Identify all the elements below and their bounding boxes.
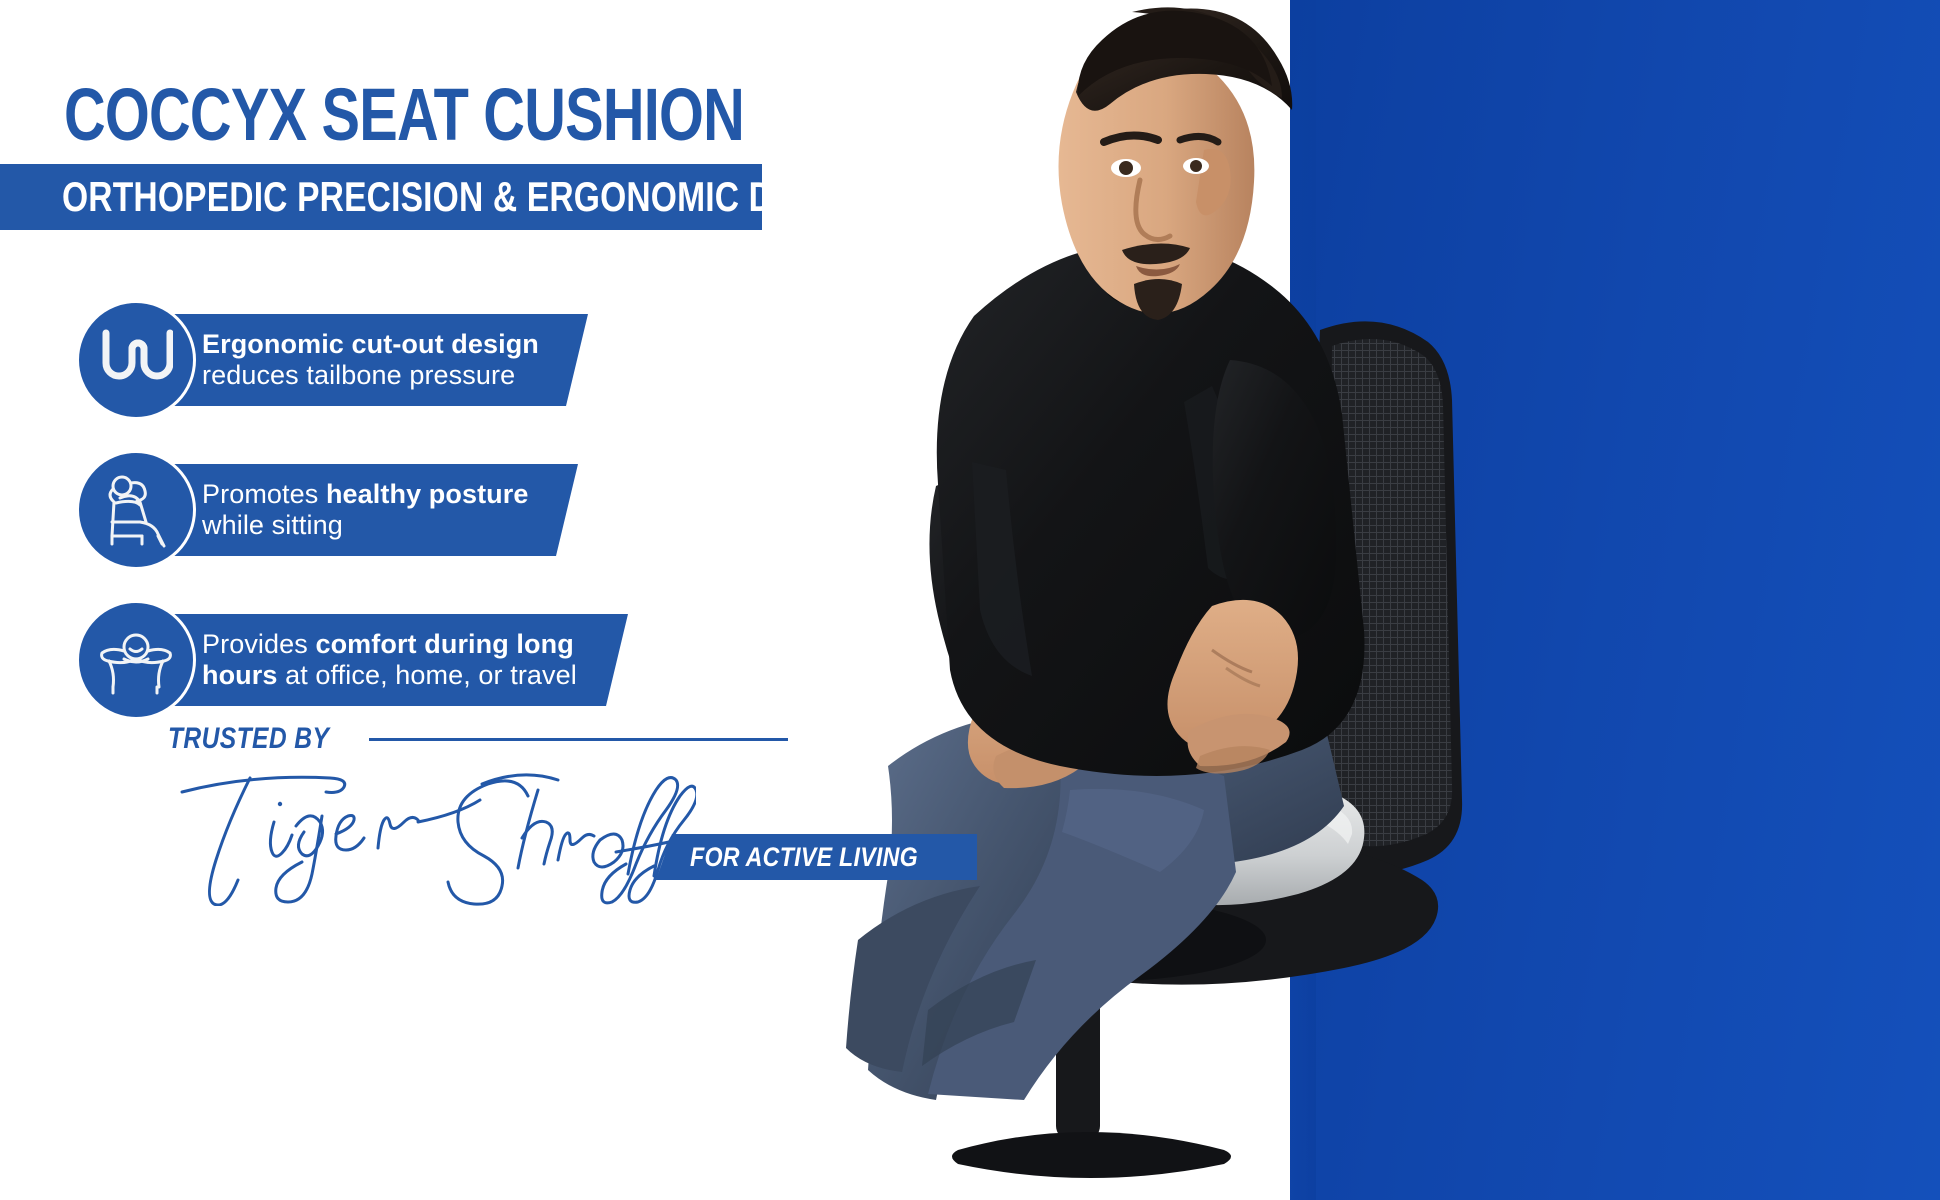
- badge-label: FOR ACTIVE LIVING: [690, 842, 918, 873]
- endorsement-block: TRUSTED BY: [168, 722, 788, 756]
- cushion-cutout-icon: [76, 300, 196, 420]
- feature-line2: reduces tailbone pressure: [202, 360, 539, 391]
- feature-line1-prefix: Promotes: [202, 479, 326, 509]
- banner-root: COCCYX SEAT CUSHION ORTHOPEDIC PRECISION…: [0, 0, 1940, 1200]
- feature-line1: Ergonomic cut-out design: [202, 329, 539, 359]
- feature-item-comfort: Provides comfort during long hours at of…: [0, 592, 780, 730]
- feature-item-cutout: Ergonomic cut-out design reduces tailbon…: [0, 292, 780, 430]
- subtitle-bar: ORTHOPEDIC PRECISION & ERGONOMIC DESIGN: [0, 164, 762, 230]
- feature-line2-bold: hours: [202, 660, 278, 690]
- page-title: COCCYX SEAT CUSHION: [64, 78, 744, 152]
- feature-line1-prefix: Provides: [202, 629, 315, 659]
- person-reclining-chair-icon: [76, 450, 196, 570]
- feature-item-posture: Promotes healthy posture while sitting: [0, 442, 780, 580]
- trusted-by-row: TRUSTED BY: [168, 722, 788, 756]
- trusted-by-rule: [369, 738, 788, 741]
- feature-line1-bold: comfort during long: [315, 629, 573, 659]
- feature-line2: while sitting: [202, 510, 529, 541]
- trusted-by-label: TRUSTED BY: [168, 722, 329, 756]
- person-relaxed-arms-behind-head-icon: [76, 600, 196, 720]
- product-photo: [760, 0, 1560, 1200]
- feature-list: Ergonomic cut-out design reduces tailbon…: [0, 292, 780, 742]
- feature-text: Provides comfort during long hours at of…: [202, 629, 611, 692]
- head: [1059, 7, 1293, 320]
- for-active-living-badge: FOR ACTIVE LIVING: [656, 834, 977, 880]
- subtitle-text: ORTHOPEDIC PRECISION & ERGONOMIC DESIGN: [62, 176, 878, 218]
- feature-text: Promotes healthy posture while sitting: [202, 479, 563, 542]
- feature-text: Ergonomic cut-out design reduces tailbon…: [202, 329, 573, 392]
- feature-line1-bold: healthy posture: [326, 479, 529, 509]
- feature-line2-suffix: at office, home, or travel: [278, 660, 577, 690]
- signature-tiger-shroff: [176, 756, 696, 906]
